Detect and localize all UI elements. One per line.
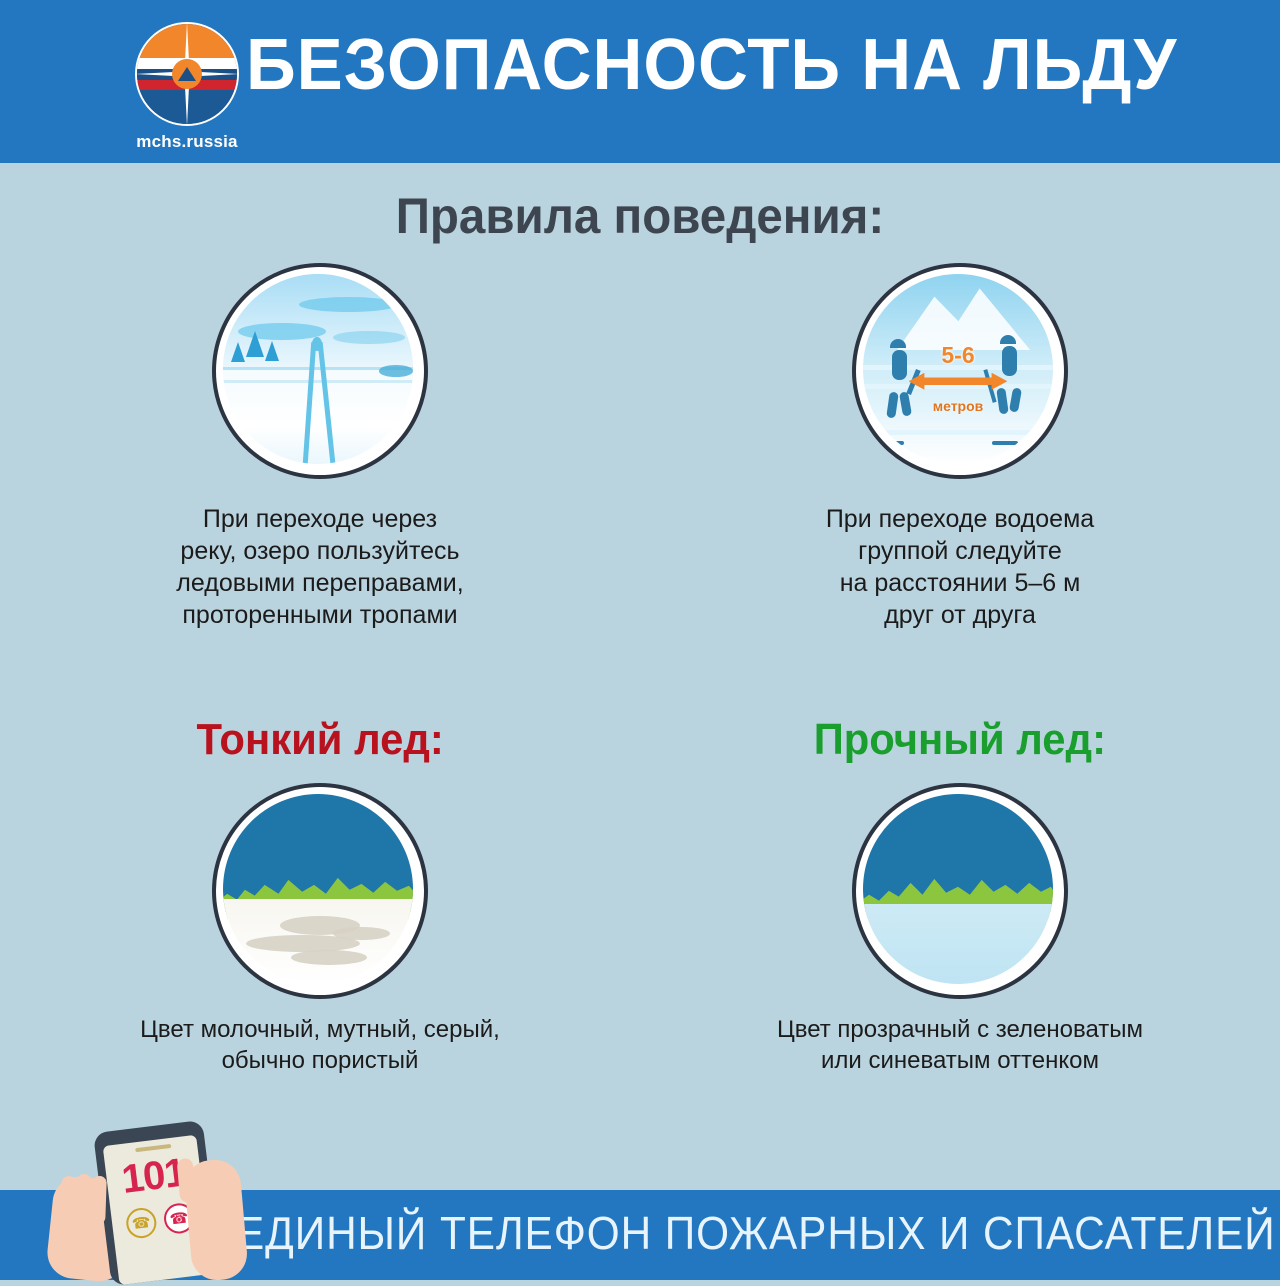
rule-caption: При переходе водоема группой следуйте на… — [740, 503, 1180, 631]
ice-type-thin: Тонкий лед: Цвет молочный, мутный, серый… — [0, 715, 640, 1076]
rule-item-ski-track: При переходе через реку, озеро пользуйте… — [0, 263, 640, 631]
right-hand — [183, 1158, 249, 1282]
thin-ice-heading: Тонкий лед: — [196, 715, 443, 765]
strong-ice-heading: Прочный лед: — [814, 715, 1106, 765]
rule-caption: При переходе через реку, озеро пользуйте… — [100, 503, 540, 631]
strong-ice-circle-icon — [852, 783, 1068, 999]
ice-type-strong: Прочный лед: Цвет прозрачный с зеленоват… — [640, 715, 1280, 1076]
page-header: mchs.russia БЕЗОПАСНОСТЬ НА ЛЬДУ — [0, 0, 1280, 163]
distance-unit: метров — [863, 398, 1053, 414]
rules-grid: При переходе через реку, озеро пользуйте… — [0, 263, 1280, 631]
ice-types-grid: Тонкий лед: Цвет молочный, мутный, серый… — [0, 715, 1280, 1076]
phone-outline-icon: ☎ — [125, 1206, 158, 1239]
thin-ice-circle-icon — [212, 783, 428, 999]
mchs-emblem-icon — [135, 22, 239, 126]
mchs-logo: mchs.russia — [128, 22, 246, 152]
footer-text: ЕДИНЫЙ ТЕЛЕФОН ПОЖАРНЫХ И СПАСАТЕЛЕЙ — [236, 1206, 1184, 1260]
main-content: Правила поведения: — [0, 163, 1280, 1190]
page-title: БЕЗОПАСНОСТЬ НА ЛЬДУ — [246, 24, 1206, 107]
two-skiers-distance-circle-icon: 5-6 метров — [852, 263, 1068, 479]
mchs-logo-label: mchs.russia — [136, 132, 237, 152]
strong-ice-caption: Цвет прозрачный с зеленоватым или синева… — [725, 1015, 1195, 1076]
distance-value: 5-6 — [863, 342, 1053, 369]
rule-item-group-distance: 5-6 метров При переходе водоема группой … — [640, 263, 1280, 631]
ski-track-circle-icon — [212, 263, 428, 479]
thin-ice-caption: Цвет молочный, мутный, серый, обычно пор… — [85, 1015, 555, 1076]
hands-holding-phone-icon: 101 ☎ ☎ — [30, 1120, 250, 1280]
section-title: Правила поведения: — [32, 187, 1248, 245]
